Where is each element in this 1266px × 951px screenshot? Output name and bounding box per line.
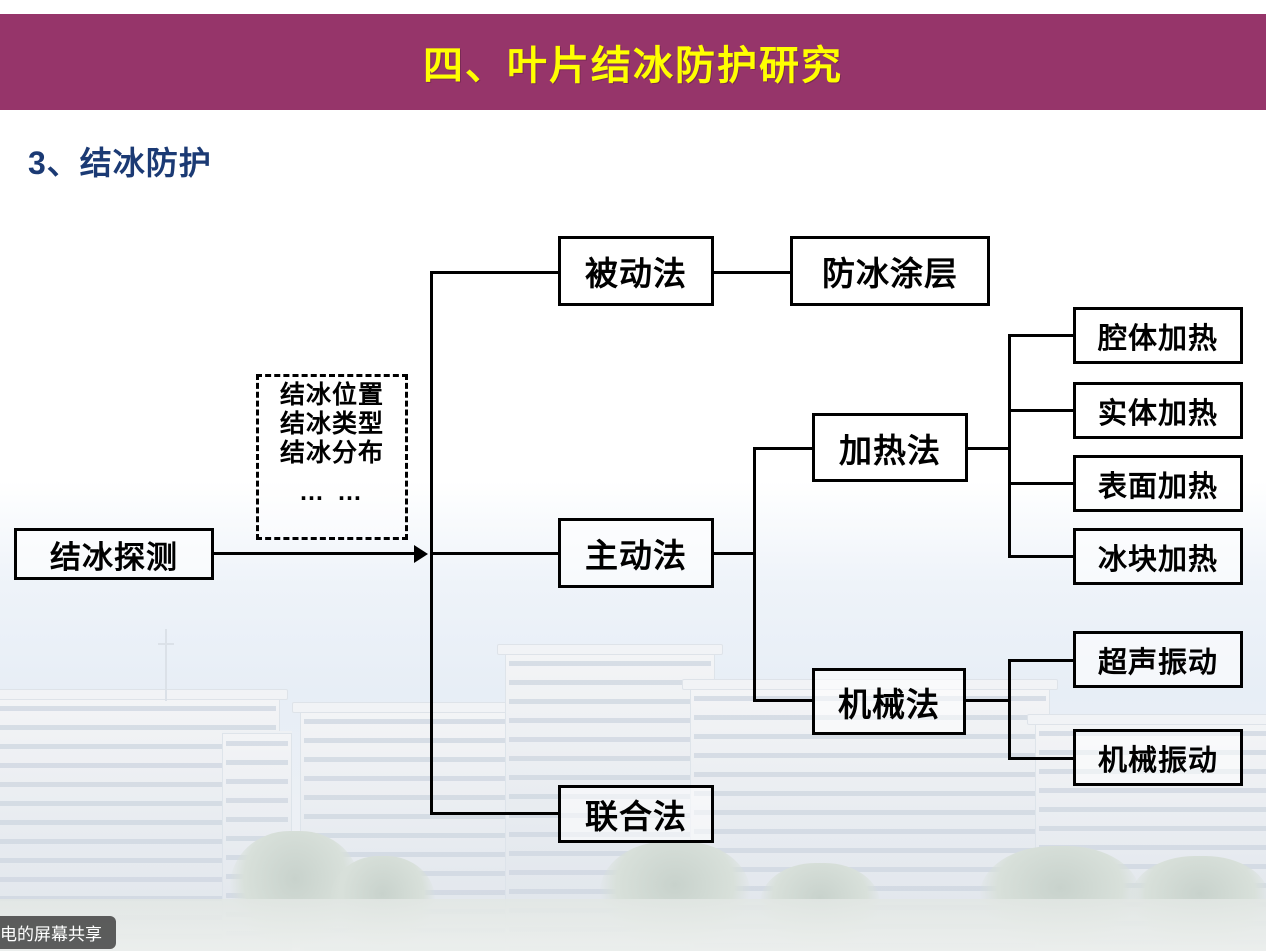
- stub-mechanical-child-1: [1008, 659, 1076, 662]
- node-label: 联合法: [585, 790, 687, 838]
- node-passive-method[interactable]: 被动法: [558, 236, 714, 306]
- node-label: 主动法: [585, 529, 687, 577]
- node-ice-block-heating[interactable]: 冰块加热: [1073, 528, 1243, 585]
- stub-heating-child-4: [1008, 555, 1076, 558]
- connector-passive-to-coating: [714, 271, 792, 274]
- trunk-main-vertical: [430, 271, 433, 815]
- connector-mechanical-to-trunk: [966, 699, 1011, 702]
- stub-trunk-to-active: [430, 552, 560, 555]
- trunk-heating-vertical: [1008, 334, 1011, 558]
- screen-share-label: 电的屏幕共享: [0, 920, 102, 945]
- trunk-mechanical-vertical: [1008, 659, 1011, 760]
- detection-output-line-2: 结冰类型: [280, 410, 384, 439]
- node-combined-method[interactable]: 联合法: [558, 785, 714, 843]
- detection-output-ellipsis: … …: [299, 478, 365, 507]
- node-mechanical-vibration[interactable]: 机械振动: [1073, 729, 1243, 786]
- stub-heating-child-1: [1008, 334, 1076, 337]
- detection-output-line-1: 结冰位置: [280, 381, 384, 410]
- node-heating-method[interactable]: 加热法: [812, 413, 968, 482]
- stub-heating-child-3: [1008, 482, 1076, 485]
- node-label: 机械振动: [1098, 737, 1218, 779]
- ice-protection-flow-diagram: 结冰探测 结冰位置 结冰类型 结冰分布 … … 被动法 主动法 联合法: [0, 0, 1266, 951]
- stub-trunk-to-passive: [430, 271, 560, 274]
- stub-mechanical-child-2: [1008, 757, 1076, 760]
- node-label: 机械法: [838, 678, 940, 726]
- node-label: 加热法: [839, 424, 941, 472]
- node-mechanical-method[interactable]: 机械法: [812, 668, 966, 735]
- node-ice-detection[interactable]: 结冰探测: [14, 528, 214, 580]
- node-cavity-heating[interactable]: 腔体加热: [1073, 307, 1243, 364]
- node-label: 防冰涂层: [822, 247, 958, 295]
- node-label: 被动法: [585, 247, 687, 295]
- detection-output-line-3: 结冰分布: [280, 439, 384, 468]
- stub-subtrunk-to-mechanical: [753, 699, 815, 702]
- connector-root-to-trunk: [214, 552, 416, 555]
- node-anti-icing-coating[interactable]: 防冰涂层: [790, 236, 990, 306]
- node-label: 冰块加热: [1098, 536, 1218, 578]
- stub-heating-child-2: [1008, 409, 1076, 412]
- node-label: 腔体加热: [1098, 315, 1218, 357]
- trunk-active-vertical: [753, 447, 756, 702]
- stub-trunk-to-combined: [430, 812, 560, 815]
- screen-share-indicator: 电的屏幕共享: [0, 916, 116, 949]
- connector-active-to-subtrunk: [714, 552, 756, 555]
- stub-subtrunk-to-heating: [753, 447, 815, 450]
- slide-canvas: 四、叶片结冰防护研究 3、结冰防护 结冰探测 结冰位置 结冰类型 结冰分布 … …: [0, 0, 1266, 951]
- node-solid-heating[interactable]: 实体加热: [1073, 382, 1243, 439]
- node-ultrasonic-vibration[interactable]: 超声振动: [1073, 631, 1243, 688]
- node-label: 结冰探测: [50, 532, 178, 577]
- node-active-method[interactable]: 主动法: [558, 518, 714, 588]
- node-surface-heating[interactable]: 表面加热: [1073, 455, 1243, 512]
- node-detection-outputs: 结冰位置 结冰类型 结冰分布 … …: [256, 374, 408, 540]
- node-label: 超声振动: [1098, 639, 1218, 681]
- arrowhead-to-trunk: [414, 545, 428, 563]
- node-label: 实体加热: [1098, 390, 1218, 432]
- connector-heating-to-trunk: [968, 447, 1011, 450]
- node-label: 表面加热: [1098, 463, 1218, 505]
